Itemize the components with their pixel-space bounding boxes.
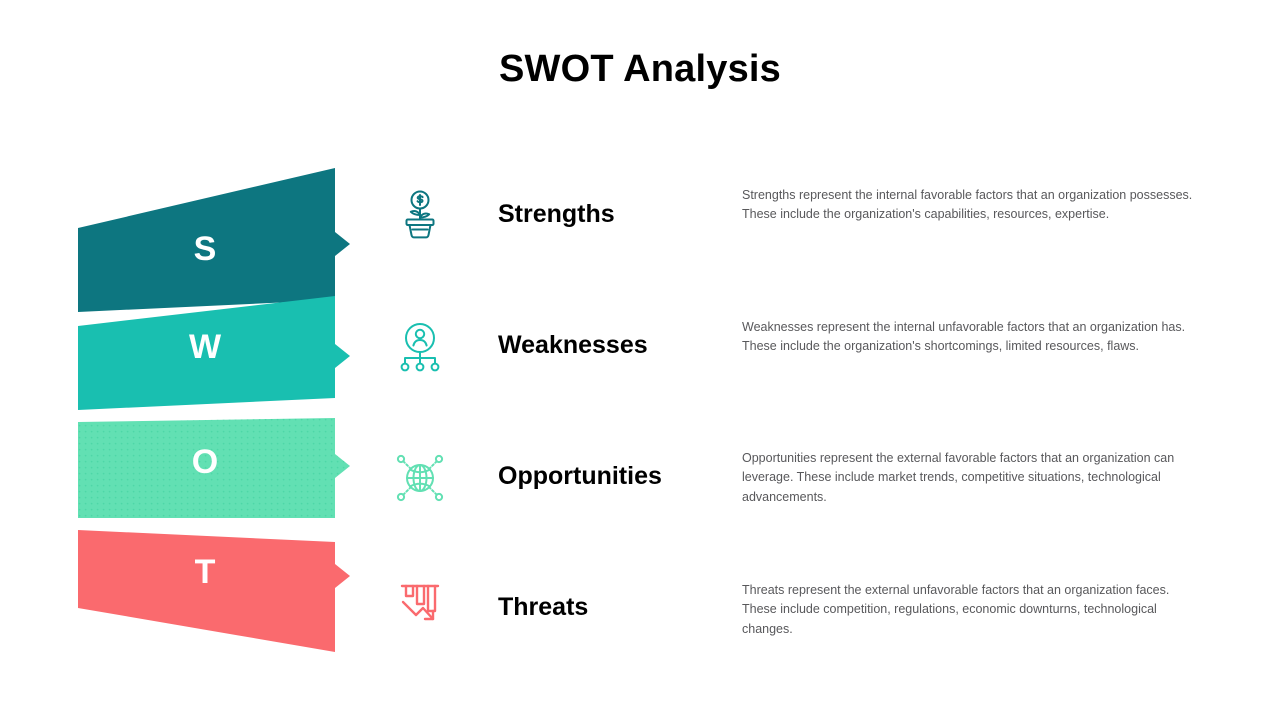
banner-threats[interactable] xyxy=(78,530,350,652)
heading-weaknesses: Weaknesses xyxy=(498,331,648,360)
swot-banner-stack: S W O T xyxy=(60,160,380,660)
org-chart-person-icon xyxy=(392,320,448,376)
heading-opportunities: Opportunities xyxy=(498,462,662,491)
swot-slide: SWOT Analysis xyxy=(0,0,1280,720)
heading-strengths: Strengths xyxy=(498,200,615,229)
money-plant-icon xyxy=(392,188,448,244)
declining-bar-chart-icon xyxy=(392,578,448,634)
page-title: SWOT Analysis xyxy=(0,48,1280,91)
globe-network-icon xyxy=(392,450,448,506)
banner-opportunities[interactable] xyxy=(78,418,350,518)
description-threats: Threats represent the external unfavorab… xyxy=(742,581,1204,639)
description-opportunities: Opportunities represent the external fav… xyxy=(742,449,1204,507)
banner-weaknesses[interactable] xyxy=(78,296,350,410)
heading-threats: Threats xyxy=(498,593,588,622)
description-strengths: Strengths represent the internal favorab… xyxy=(742,186,1204,225)
banner-strengths[interactable] xyxy=(78,168,350,312)
banner-shapes xyxy=(60,160,380,660)
description-weaknesses: Weaknesses represent the internal unfavo… xyxy=(742,318,1204,357)
